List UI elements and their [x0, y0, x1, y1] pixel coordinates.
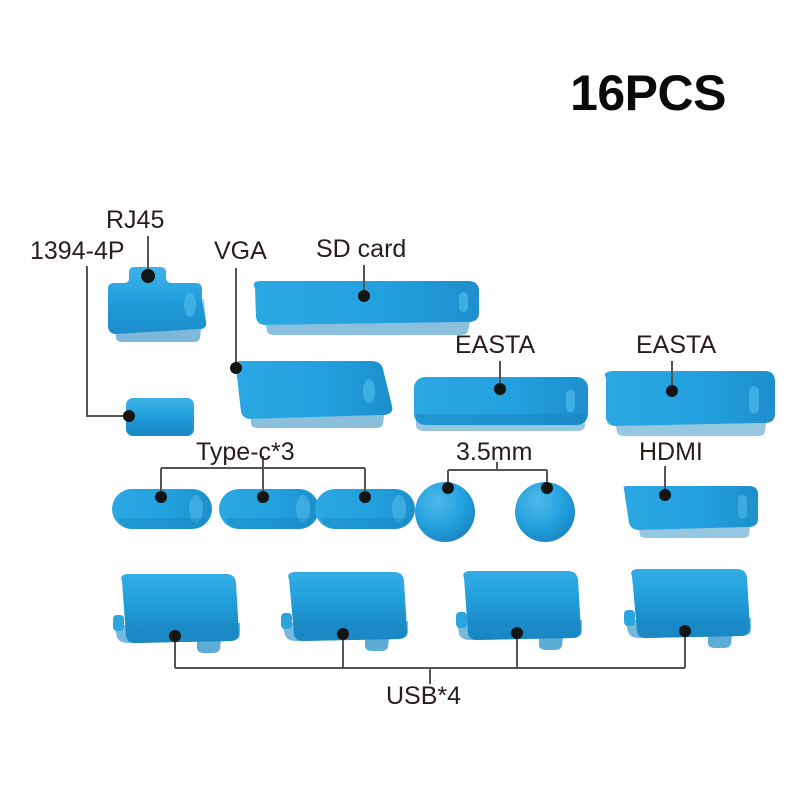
label-vga: VGA	[214, 239, 267, 264]
dot-type-c-1	[155, 491, 167, 503]
1394-4p-plug	[126, 398, 194, 436]
easta-plug-right	[605, 371, 775, 436]
plug-illustration	[0, 0, 800, 800]
label-hdmi: HDMI	[639, 440, 703, 465]
dot-1394-4p	[123, 410, 135, 422]
dot-35mm-1	[442, 482, 454, 494]
dot-sd-card	[358, 290, 370, 302]
dot-usb-1	[169, 630, 181, 642]
product-diagram: 16PCS	[0, 0, 800, 800]
dot-35mm-2	[541, 482, 553, 494]
vga-plug	[235, 361, 393, 428]
dot-usb-4	[679, 625, 691, 637]
label-easta-left: EASTA	[455, 333, 535, 358]
sd-card-plug	[254, 281, 479, 335]
dot-type-c-3	[359, 491, 371, 503]
dot-hdmi	[659, 489, 671, 501]
label-easta-right: EASTA	[636, 333, 716, 358]
dot-easta-right	[666, 385, 678, 397]
dot-usb-3	[511, 627, 523, 639]
label-sd-card: SD card	[316, 237, 406, 262]
dot-usb-2	[337, 628, 349, 640]
label-rj45: RJ45	[106, 208, 164, 233]
dot-rj45	[141, 269, 155, 283]
dot-type-c-2	[257, 491, 269, 503]
label-1394-4p: 1394-4P	[30, 239, 125, 264]
type-c-plug	[219, 489, 319, 529]
label-type-c: Type-c*3	[196, 440, 295, 465]
label-3-5mm: 3.5mm	[456, 440, 532, 465]
hdmi-plug	[624, 486, 759, 538]
label-usb: USB*4	[386, 684, 461, 709]
dot-easta-left	[494, 383, 506, 395]
dot-vga	[230, 362, 242, 374]
rj45-plug	[108, 267, 206, 342]
